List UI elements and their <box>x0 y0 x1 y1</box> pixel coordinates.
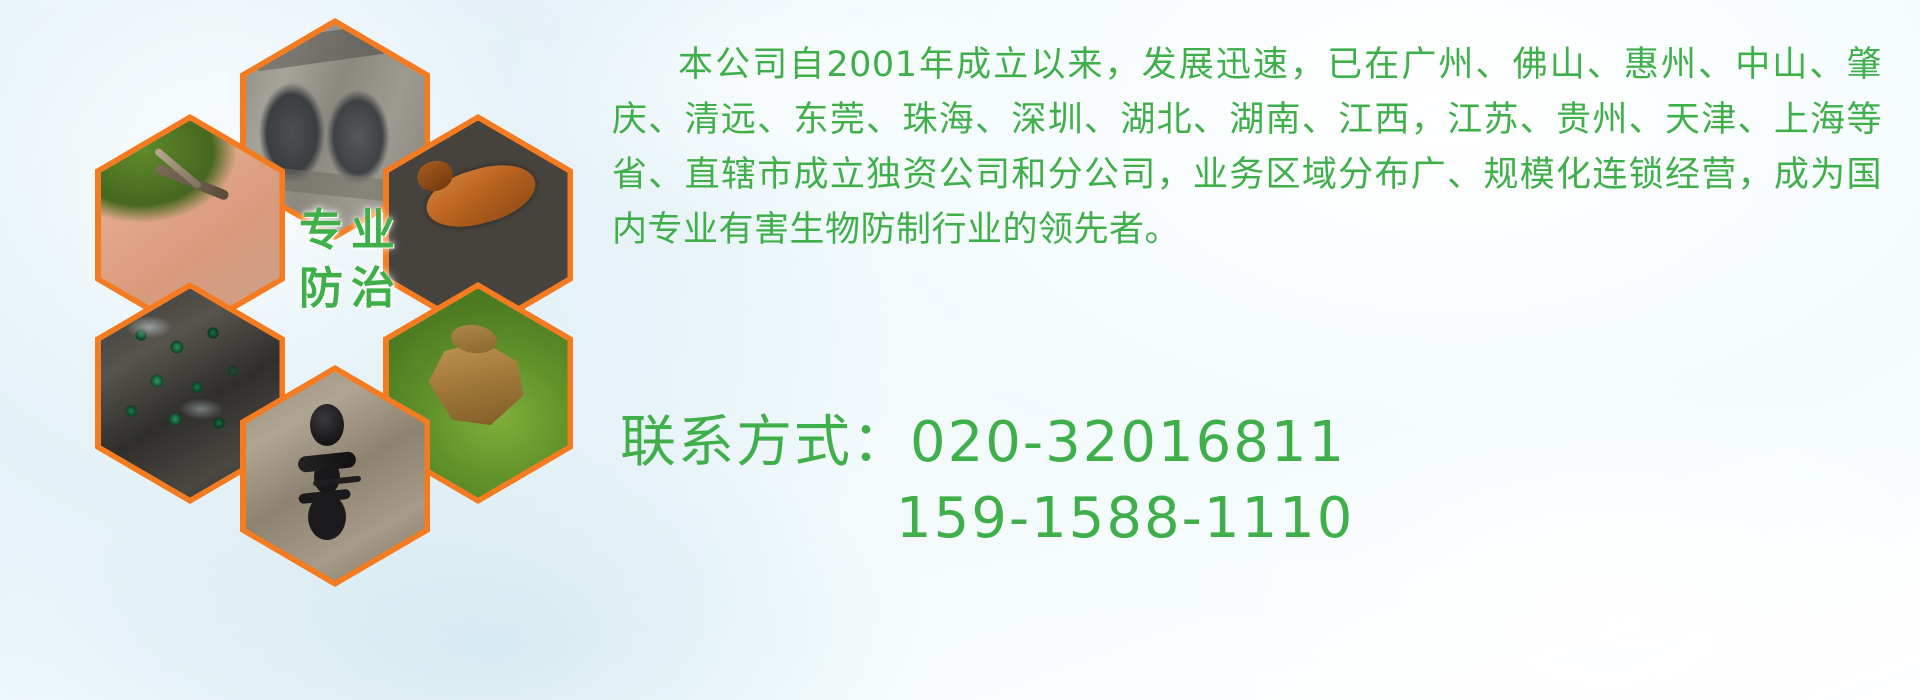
contact-primary-line: 联系方式：020-32016811 <box>620 405 1900 481</box>
ant-photo <box>246 372 425 581</box>
contact-secondary-phone: 159-1588-1110 <box>620 481 1900 557</box>
hexagon-photo-cluster: 专业 防治 <box>95 10 595 570</box>
company-intro-block: 本公司自2001年成立以来，发展迅速，已在广州、佛山、惠州、中山、肇庆、清远、东… <box>612 38 1882 258</box>
pest-control-banner: 专业 防治 本公司自2001年成立以来，发展迅速，已在广州、佛山、惠州、中山、肇… <box>0 0 1920 700</box>
company-intro-paragraph: 本公司自2001年成立以来，发展迅速，已在广州、佛山、惠州、中山、肇庆、清远、东… <box>612 38 1882 258</box>
contact-block: 联系方式：020-32016811 159-1588-1110 <box>620 405 1900 557</box>
